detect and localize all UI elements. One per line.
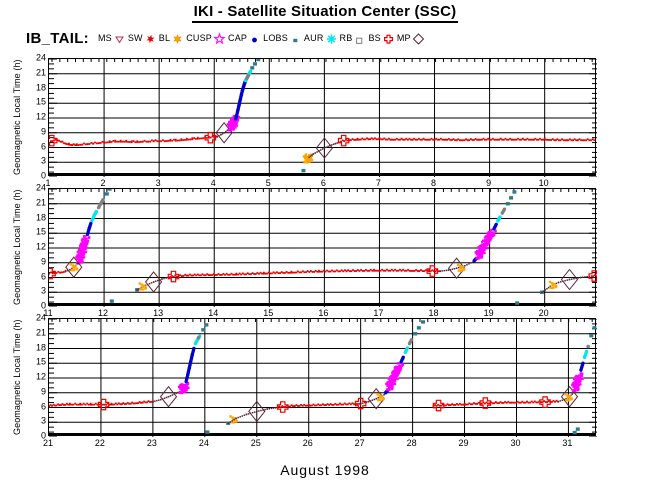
legend-item-label: LOBS	[263, 33, 288, 43]
xaxis-tick-label: 9	[486, 179, 491, 188]
page-title: IKI - Satellite Situation Center (SSC)	[0, 3, 650, 20]
legend-item-cap: CAP	[228, 32, 263, 45]
legend-item-bl: BL	[159, 32, 186, 45]
xaxis-tick-label: 15	[263, 309, 273, 318]
xaxis-tick-label: 2	[101, 179, 106, 188]
yaxis-tick-label: 21	[36, 328, 46, 337]
series-RB-3	[586, 345, 590, 349]
row-2-plot-area	[48, 188, 596, 306]
xaxis-tick-label: 28	[407, 439, 417, 448]
series-LOBS-low-1	[205, 422, 230, 434]
xaxis-label: August 1998	[0, 462, 650, 478]
yaxis-tick-label: 21	[36, 68, 46, 77]
yaxis-ticks: 03691215182124	[26, 318, 46, 436]
legend-item-cusp: CUSP	[186, 32, 228, 45]
legend-items: MSSWBLCUSPCAPLOBSAURRBBSMP	[98, 32, 427, 45]
xaxis-tick-label: 20	[539, 309, 549, 318]
xaxis-ticks: 2122232425262728293031	[48, 439, 596, 453]
series-MP-out	[308, 138, 341, 158]
legend-item-label: AUR	[304, 33, 324, 43]
yaxis-tick-label: 9	[41, 257, 46, 266]
series-CAP-1	[86, 222, 93, 236]
row-1-plot-area	[48, 58, 596, 176]
legend-item-mp: MP	[397, 32, 427, 45]
down-triangle-open-icon	[113, 32, 126, 45]
series-BS-2	[277, 398, 366, 412]
row-2: Geomagnetic Local Time (h)03691215182124…	[12, 188, 650, 322]
yaxis-tick-label: 3	[41, 417, 46, 426]
series-CAP	[234, 79, 247, 121]
legend-item-sw: SW	[128, 32, 159, 45]
magenta-star-open-icon	[213, 32, 226, 45]
series-LOBS-3	[589, 326, 596, 337]
red-cross-icon	[382, 32, 395, 45]
legend-item-label: SW	[128, 33, 143, 43]
yaxis-tick-label: 18	[36, 83, 46, 92]
legend-item-label: BS	[368, 33, 380, 43]
series-AUR-2	[404, 346, 409, 354]
row-2-canvas	[49, 189, 597, 307]
series-BS	[49, 132, 218, 146]
page-title-text: IKI - Satellite Situation Center (SSC)	[192, 3, 459, 23]
yaxis-tick-label: 18	[36, 343, 46, 352]
series-BS-3	[433, 397, 559, 411]
satellite-label: IB_TAIL:	[26, 30, 89, 47]
blue-dot-icon	[248, 32, 261, 45]
yaxis-tick-label: 15	[36, 98, 46, 107]
yaxis-ticks: 03691215182124	[26, 58, 46, 176]
xaxis-tick-label: 7	[376, 179, 381, 188]
series-CUSP-1	[178, 382, 190, 395]
yaxis-tick-label: 6	[41, 272, 46, 281]
xaxis-tick-label: 18	[429, 309, 439, 318]
series-RB-1	[197, 336, 201, 340]
red-burst-icon	[144, 32, 157, 45]
series-BL-4	[549, 281, 558, 289]
series-LOBS-1	[105, 189, 112, 196]
row-1: Geomagnetic Local Time (h)03691215182124…	[12, 58, 650, 192]
teal-square-icon	[289, 32, 302, 45]
yaxis-tick-label: 21	[36, 198, 46, 207]
yaxis-tick-label: 6	[41, 142, 46, 151]
legend-item-bs: BS	[368, 32, 396, 45]
xaxis-tick-label: 1	[45, 179, 50, 188]
series-CAP-2	[399, 356, 404, 364]
series-BL-2	[139, 282, 148, 290]
yaxis-ticks: 03691215182124	[26, 188, 46, 306]
series-LOBS-low	[301, 169, 305, 172]
cyan-asterisk-icon	[325, 32, 338, 45]
xaxis-tick-label: 13	[153, 309, 163, 318]
series-LOBS-2	[413, 320, 425, 335]
legend-item-rb: RB	[340, 32, 369, 45]
yaxis-label: Geomagnetic Local Time (h)	[10, 58, 24, 176]
legend-item-lobs: LOBS	[263, 32, 304, 45]
series-CUSP-1	[75, 235, 90, 265]
yaxis-tick-label: 15	[36, 358, 46, 367]
series-MP-3	[439, 258, 474, 278]
xaxis-tick-label: 8	[431, 179, 436, 188]
xaxis-tick-label: 22	[95, 439, 105, 448]
series-RB-2	[501, 207, 507, 214]
yaxis-tick-label: 12	[36, 243, 46, 252]
series-RB	[245, 74, 250, 80]
series-CUSP-3	[571, 372, 584, 392]
xaxis-tick-label: 4	[211, 179, 216, 188]
open-square-icon	[353, 32, 366, 45]
legend-item-aur: AUR	[304, 32, 340, 45]
yaxis-tick-label: 6	[41, 402, 46, 411]
xaxis-tick-label: 24	[199, 439, 209, 448]
series-LOBS-2	[506, 190, 517, 205]
xaxis-tick-label: 6	[321, 179, 326, 188]
xaxis-tick-label: 5	[266, 179, 271, 188]
xaxis-tick-label: 3	[156, 179, 161, 188]
xaxis-tick-label: 12	[98, 309, 108, 318]
legend-item-label: CUSP	[186, 33, 212, 43]
series-BS-2	[338, 135, 595, 145]
yaxis-label: Geomagnetic Local Time (h)	[10, 188, 24, 306]
series-LOBS-low-2	[110, 288, 139, 303]
legend-item-ms: MS	[98, 32, 128, 45]
xaxis-tick-label: 19	[484, 309, 494, 318]
yaxis-tick-label: 3	[41, 287, 46, 296]
gold-star-icon	[171, 32, 184, 45]
xaxis-tick-label: 29	[459, 439, 469, 448]
legend-item-label: BL	[159, 33, 170, 43]
yaxis-tick-label: 12	[36, 113, 46, 122]
yaxis-tick-label: 24	[36, 54, 46, 63]
series-AUR-3	[583, 350, 588, 359]
ssc-plot-page: IKI - Satellite Situation Center (SSC) I…	[0, 0, 650, 500]
yaxis-tick-label: 18	[36, 213, 46, 222]
series-CAP-2	[492, 223, 498, 231]
yaxis-tick-label: 12	[36, 373, 46, 382]
row-1-canvas	[49, 59, 597, 177]
row-3: Geomagnetic Local Time (h)03691215182124…	[12, 318, 650, 452]
series-CUSP-2	[385, 362, 404, 391]
series-LOBS-low-3	[573, 427, 580, 434]
yaxis-tick-label: 24	[36, 314, 46, 323]
xaxis-tick-label: 16	[318, 309, 328, 318]
series-MP-1	[152, 387, 182, 407]
series-AUR-1	[194, 335, 202, 346]
legend-item-label: CAP	[228, 33, 247, 43]
xaxis-tick-label: 27	[355, 439, 365, 448]
legend: IB_TAIL: MSSWBLCUSPCAPLOBSAURRBBSMP	[26, 28, 427, 48]
xaxis-tick-label: 31	[562, 439, 572, 448]
xaxis-tick-label: 14	[208, 309, 218, 318]
series-BS-2	[168, 266, 441, 282]
legend-item-label: MP	[397, 33, 411, 43]
series-CUSP	[227, 115, 241, 132]
legend-item-label: MS	[98, 33, 112, 43]
yaxis-tick-label: 9	[41, 127, 46, 136]
row-3-plot-area	[48, 318, 596, 436]
xaxis-tick-label: 25	[251, 439, 261, 448]
yaxis-tick-label: 3	[41, 157, 46, 166]
xaxis-tick-label: 10	[539, 179, 549, 188]
yaxis-tick-label: 24	[36, 184, 46, 193]
xaxis-tick-label: 30	[510, 439, 520, 448]
yaxis-tick-label: 15	[36, 228, 46, 237]
series-BS-1	[49, 399, 154, 409]
row-3-canvas	[49, 319, 597, 437]
xaxis-tick-label: 17	[373, 309, 383, 318]
series-AUR-1	[90, 210, 98, 222]
yaxis-label: Geomagnetic Local Time (h)	[10, 318, 24, 436]
xaxis-tick-label: 21	[43, 439, 53, 448]
dark-diamond-open-icon	[412, 32, 425, 45]
xaxis-tick-label: 23	[147, 439, 157, 448]
yaxis-tick-label: 9	[41, 387, 46, 396]
legend-item-label: RB	[340, 33, 353, 43]
xaxis-tick-label: 26	[303, 439, 313, 448]
